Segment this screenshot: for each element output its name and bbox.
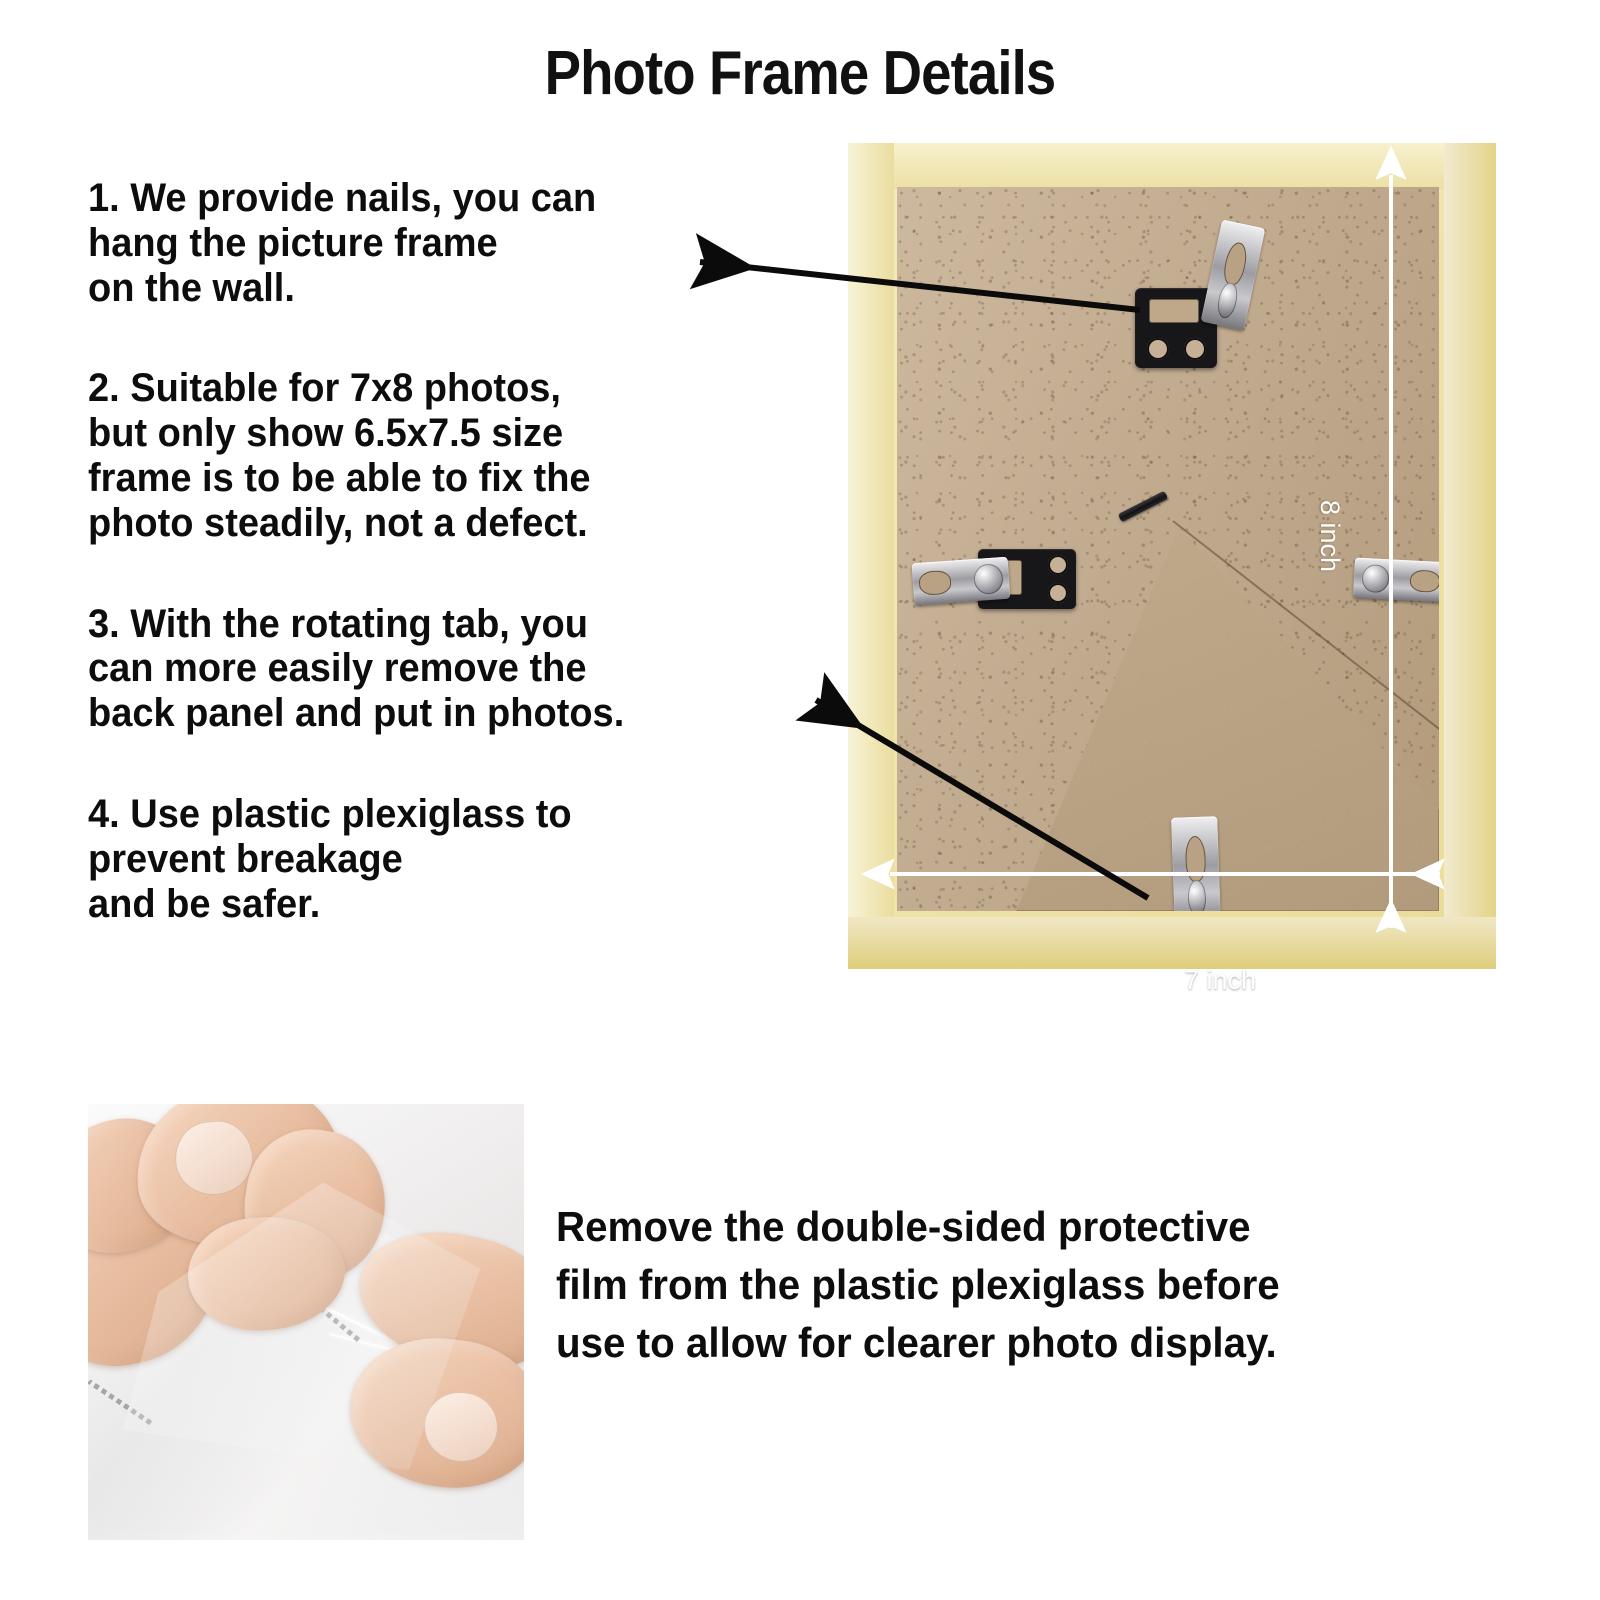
instruction-line: 4. Use plastic plexiglass to (88, 792, 782, 837)
instruction-line: can more easily remove the (88, 646, 782, 691)
kraft-backing-board (897, 187, 1439, 911)
instruction-item-2: 2. Suitable for 7x8 photos, but only sho… (88, 366, 782, 545)
bottom-note-line: film from the plastic plexiglass before (556, 1256, 1478, 1314)
instruction-line: hang the picture frame (88, 221, 782, 266)
instruction-line: on the wall. (88, 266, 782, 311)
width-dimension-label: 7 inch (1184, 965, 1256, 996)
rotating-tab-icon (1353, 557, 1439, 602)
instruction-line: photo steadily, not a defect. (88, 501, 782, 546)
frame-back-photo: 7 inch 8 inch (848, 143, 1496, 969)
rotating-tab-icon (912, 557, 1011, 606)
instruction-line: 3. With the rotating tab, you (88, 602, 782, 647)
protective-film-photo (88, 1104, 524, 1540)
instruction-line: 2. Suitable for 7x8 photos, (88, 366, 782, 411)
bottom-note-line: Remove the double-sided protective (556, 1198, 1478, 1256)
page-title: Photo Frame Details (96, 38, 1504, 109)
rotating-tab-icon (1172, 817, 1222, 911)
instruction-line: 1. We provide nails, you can (88, 176, 782, 221)
frame-moulding-left (848, 143, 894, 969)
instruction-list: 1. We provide nails, you can hang the pi… (88, 176, 818, 926)
instruction-item-1: 1. We provide nails, you can hang the pi… (88, 176, 782, 310)
film-printed-marking (88, 1373, 154, 1426)
instruction-line: frame is to be able to fix the (88, 456, 782, 501)
hanger-slot (1149, 299, 1200, 323)
instruction-line: back panel and put in photos. (88, 691, 782, 736)
bottom-note-line: use to allow for clearer photo display. (556, 1314, 1478, 1372)
frame-moulding-top (848, 143, 1496, 189)
frame-moulding-right (1444, 143, 1496, 969)
tab-pivot (1361, 564, 1389, 593)
instruction-line: prevent breakage (88, 837, 782, 882)
instruction-line: and be safer. (88, 882, 782, 927)
instruction-item-4: 4. Use plastic plexiglass to prevent bre… (88, 792, 782, 926)
frame-moulding-bottom (848, 917, 1496, 969)
instruction-line: but only show 6.5x7.5 size (88, 411, 782, 456)
instruction-item-3: 3. With the rotating tab, you can more e… (88, 602, 782, 736)
bottom-note: Remove the double-sided protective film … (556, 1198, 1516, 1372)
